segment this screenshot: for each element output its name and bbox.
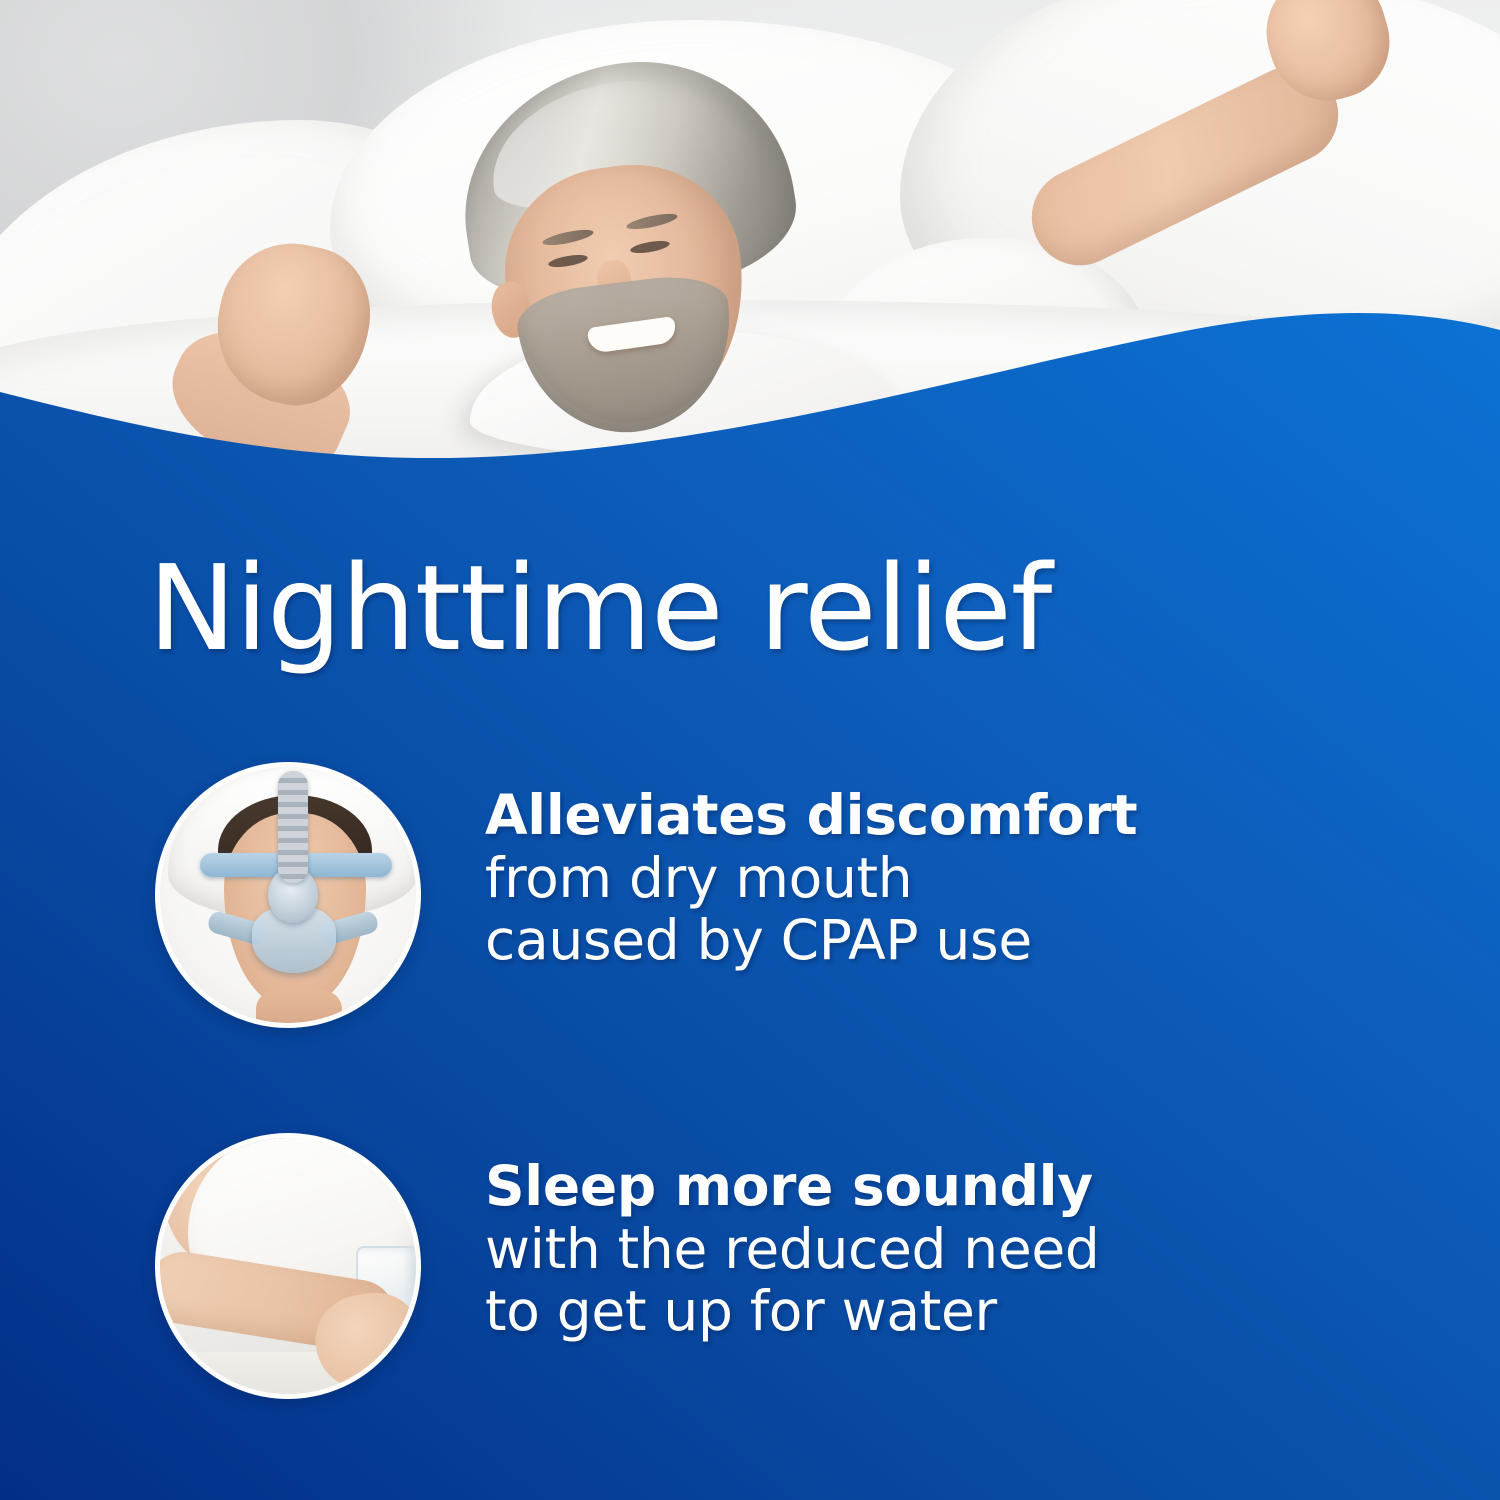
benefit-headline: Alleviates discomfort [485, 784, 1455, 847]
benefit-headline: Sleep more soundly [485, 1155, 1455, 1218]
benefit-line-3: caused by CPAP use [485, 909, 1455, 972]
cpap-hose [278, 771, 308, 883]
benefit-line-3: to get up for water [485, 1280, 1455, 1343]
content-area: Nighttime relief Alleviates discomfort f… [0, 0, 1500, 1500]
benefit-line-2: from dry mouth [485, 847, 1455, 910]
benefit-text-block: Alleviates discomfort from dry mouth cau… [485, 762, 1455, 972]
poster-root: Nighttime relief Alleviates discomfort f… [0, 0, 1500, 1500]
benefit-item-sleep-soundly: Sleep more soundly with the reduced need… [155, 1133, 1455, 1399]
benefit-image-cpap-mask [155, 762, 421, 1028]
benefit-image-woman-sleeping [155, 1133, 421, 1399]
benefit-item-cpap-discomfort: Alleviates discomfort from dry mouth cau… [155, 762, 1455, 1028]
page-title: Nighttime relief [148, 548, 1348, 668]
cpap-user-neck [256, 991, 342, 1028]
benefit-line-2: with the reduced need [485, 1218, 1455, 1281]
benefit-text-block: Sleep more soundly with the reduced need… [485, 1133, 1455, 1343]
